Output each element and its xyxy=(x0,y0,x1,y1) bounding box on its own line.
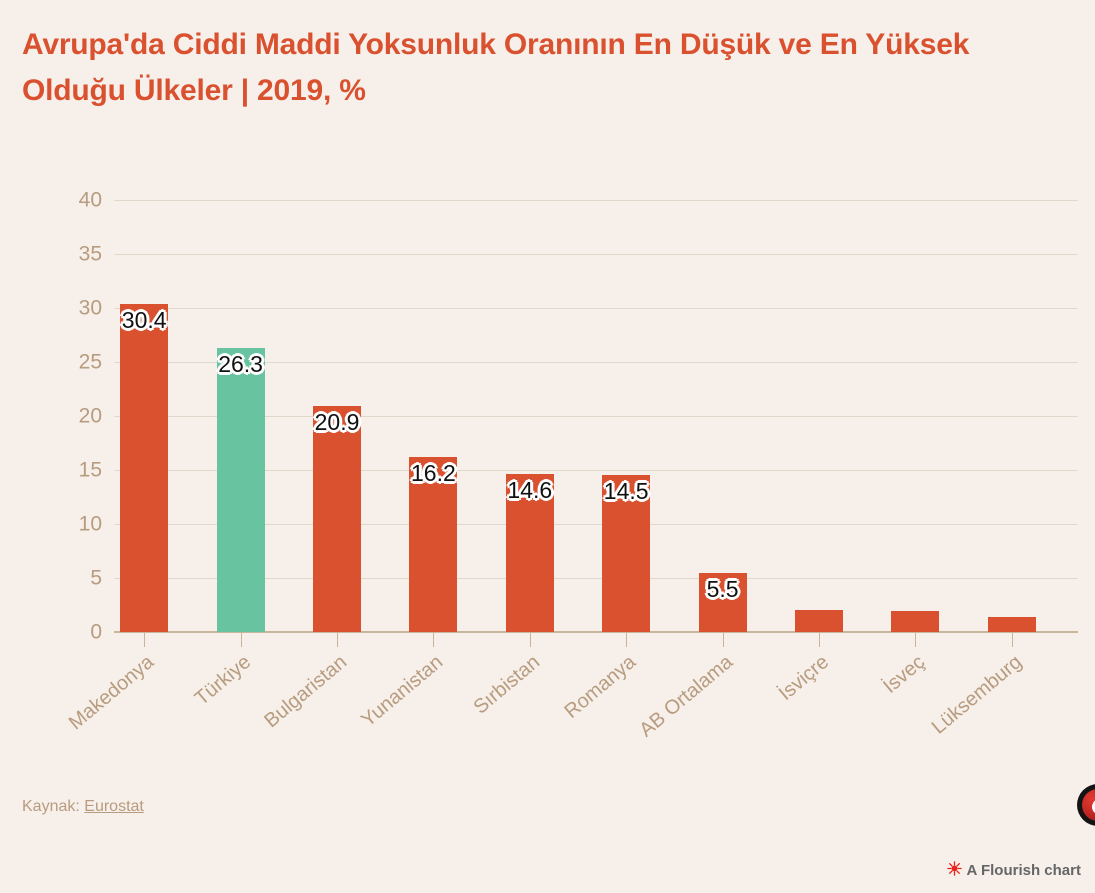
bar-ab-ortalama[interactable]: 5.5 xyxy=(699,573,747,632)
y-tick-label: 5 xyxy=(56,568,102,589)
x-tick xyxy=(433,633,434,647)
flourish-starburst-icon xyxy=(947,861,962,880)
bar-value-label: 5.5 xyxy=(707,576,739,603)
x-tick xyxy=(915,633,916,647)
y-tick-label: 0 xyxy=(56,622,102,643)
bar-l-ksemburg[interactable] xyxy=(988,617,1036,632)
bar-value-label: 16.2 xyxy=(411,460,456,487)
source-note: Kaynak: Eurostat xyxy=(22,798,144,816)
bar-t-rkiye[interactable]: 26.3 xyxy=(217,348,265,632)
x-tick xyxy=(723,633,724,647)
flourish-credit[interactable]: A Flourish chart xyxy=(947,861,1081,880)
source-link[interactable]: Eurostat xyxy=(84,798,144,815)
bar-bulgaristan[interactable]: 20.9 xyxy=(313,406,361,632)
x-tick xyxy=(530,633,531,647)
gridline xyxy=(114,254,1078,255)
bar-yunanistan[interactable]: 16.2 xyxy=(409,457,457,632)
plot-area: 30.426.320.916.214.614.55.5 xyxy=(114,200,1078,632)
bar-value-label: 30.4 xyxy=(122,307,167,334)
leaf-icon xyxy=(1082,789,1095,821)
y-tick-label: 35 xyxy=(56,244,102,265)
x-tick xyxy=(1012,633,1013,647)
y-tick-label: 10 xyxy=(56,514,102,535)
x-tick xyxy=(241,633,242,647)
x-tick xyxy=(144,633,145,647)
bar-value-label: 14.6 xyxy=(507,477,552,504)
flourish-credit-label: A Flourish chart xyxy=(967,862,1081,879)
bar-i-sve-[interactable] xyxy=(891,611,939,632)
bar-value-label: 20.9 xyxy=(315,409,360,436)
page-title: Avrupa'da Ciddi Maddi Yoksunluk Oranının… xyxy=(22,22,1077,113)
gridline xyxy=(114,308,1078,309)
source-label: Kaynak: xyxy=(22,798,84,815)
y-tick-label: 40 xyxy=(56,190,102,211)
y-tick-label: 20 xyxy=(56,406,102,427)
y-tick-label: 30 xyxy=(56,298,102,319)
bar-value-label: 14.5 xyxy=(604,478,649,505)
gridline xyxy=(114,200,1078,201)
bar-makedonya[interactable]: 30.4 xyxy=(120,304,168,632)
x-tick xyxy=(337,633,338,647)
bar-romanya[interactable]: 14.5 xyxy=(602,475,650,632)
bar-s-rbistan[interactable]: 14.6 xyxy=(506,474,554,632)
y-tick-label: 15 xyxy=(56,460,102,481)
y-tick-label: 25 xyxy=(56,352,102,373)
x-tick xyxy=(819,633,820,647)
x-tick xyxy=(626,633,627,647)
bar-i-svi-re[interactable] xyxy=(795,610,843,632)
bar-value-label: 26.3 xyxy=(218,351,263,378)
x-axis: MakedonyaTürkiyeBulgaristanYunanistanSır… xyxy=(114,633,1078,763)
logo-badge xyxy=(1077,784,1095,826)
